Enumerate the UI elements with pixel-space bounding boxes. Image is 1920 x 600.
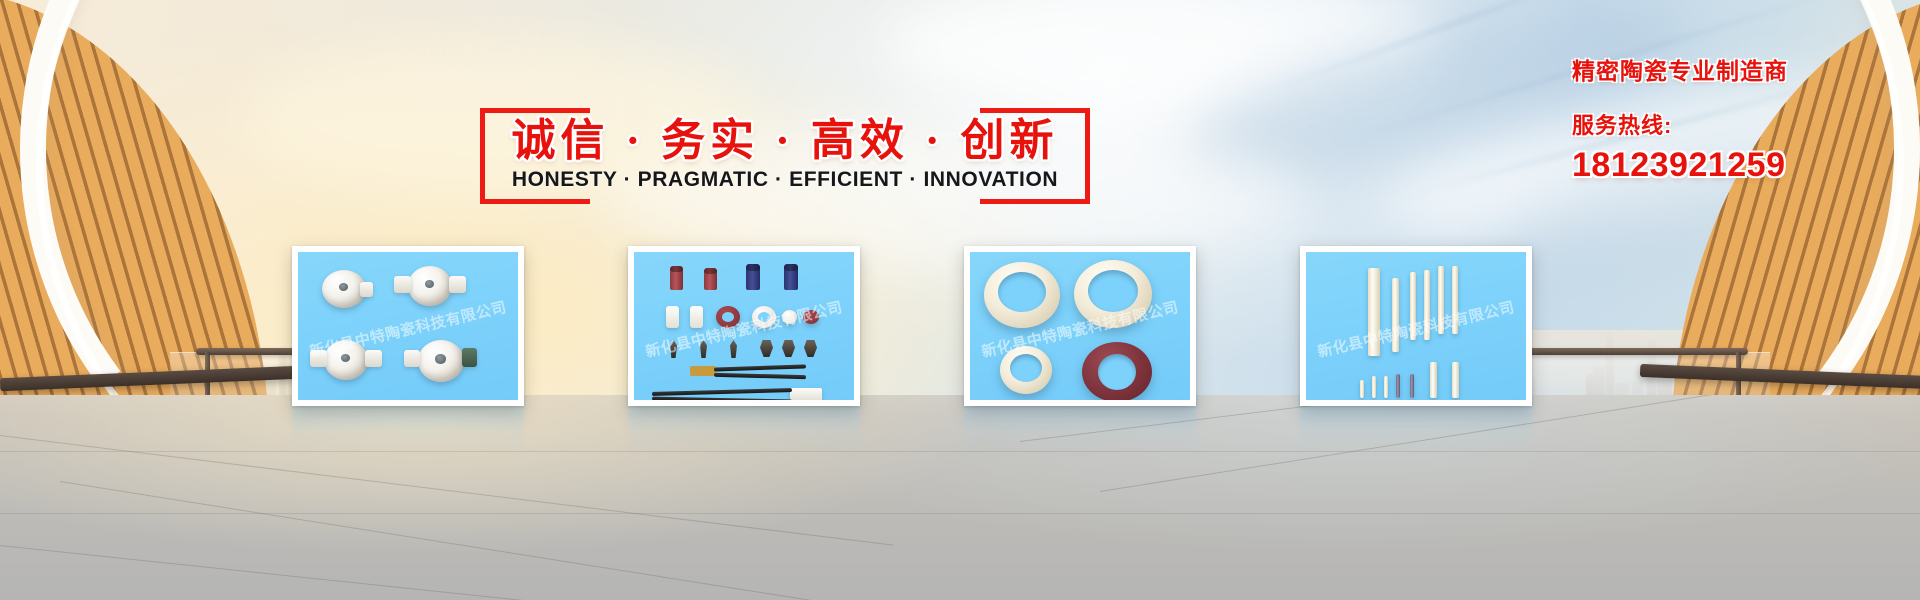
holder-tab: [365, 350, 382, 367]
ceramic-rod: [1410, 272, 1416, 340]
hotline-number[interactable]: 18123921259: [1572, 146, 1902, 185]
ceramic-rod: [1392, 278, 1399, 352]
wire-lead: [714, 364, 806, 371]
ceramic-rod: [1452, 266, 1458, 334]
contact-block: 精密陶瓷专业制造商 服务热线: 18123921259: [1572, 52, 1902, 185]
ceramic-plate: [690, 306, 703, 328]
company-tagline: 精密陶瓷专业制造商: [1572, 52, 1902, 86]
terrace-floor: [0, 395, 1920, 600]
ceramic-cap-red: [803, 310, 819, 324]
ceramic-tube: [1430, 362, 1437, 398]
slogan-english: HONESTY · PRAGMATIC · EFFICIENT · INNOVA…: [446, 168, 1124, 192]
ceramic-rod: [1424, 270, 1430, 340]
metal-clip: [730, 340, 737, 358]
product-panel-ceramic-rods[interactable]: 新化县中特陶瓷科技有限公司: [1300, 246, 1532, 406]
wire-lead: [652, 397, 792, 400]
ceramic-rod: [1438, 266, 1444, 334]
ceramic-sleeve-red: [670, 266, 683, 290]
metal-terminal: [782, 340, 795, 357]
ceramic-lamp-holder: [418, 340, 464, 382]
hotline-label: 服务热线:: [1572, 108, 1902, 140]
slogan-block: 诚信 · 务实 · 高效 · 创新 HONESTY · PRAGMATIC · …: [480, 108, 1090, 204]
hero-banner: 诚信 · 务实 · 高效 · 创新 HONESTY · PRAGMATIC · …: [0, 0, 1920, 600]
product-panel-ceramic-rings[interactable]: 新化县中特陶瓷科技有限公司: [964, 246, 1196, 406]
ceramic-rod-small: [1384, 376, 1388, 398]
wire-lead: [714, 373, 806, 379]
ring-bore: [1010, 354, 1042, 382]
ring-bore: [1098, 354, 1136, 390]
product-panel-insulator-components[interactable]: 新化县中特陶瓷科技有限公司: [628, 246, 860, 406]
holder-tab: [360, 282, 373, 297]
holder-tab: [404, 350, 420, 367]
holder-tab: [449, 276, 466, 293]
ceramic-cap-white: [782, 310, 797, 324]
ceramic-rod-violet: [1410, 374, 1414, 398]
metal-terminal: [804, 340, 817, 357]
metal-clip: [670, 340, 677, 358]
product-panel-lamp-holders[interactable]: 新化县中特陶瓷科技有限公司: [292, 246, 524, 406]
metal-terminal: [760, 340, 773, 357]
slogan-chinese: 诚信 · 务实 · 高效 · 创新: [480, 104, 1090, 168]
ring-bore: [1088, 270, 1138, 312]
panel-watermark: 新化县中特陶瓷科技有限公司: [1315, 296, 1516, 362]
metal-clip: [700, 340, 707, 358]
white-connector: [790, 388, 822, 400]
ceramic-sleeve-blue: [784, 264, 798, 290]
ring-bore: [998, 272, 1046, 312]
ceramic-sleeve-red: [704, 268, 717, 290]
ceramic-rod-violet: [1396, 374, 1400, 398]
ceramic-lamp-holder: [408, 266, 452, 306]
ceramic-plate: [666, 306, 679, 328]
wire-lead: [652, 388, 792, 396]
brass-connector: [690, 366, 716, 376]
product-gallery: 新化县中特陶瓷科技有限公司: [292, 246, 1532, 406]
ceramic-rod-small: [1360, 380, 1364, 398]
ring-hole: [722, 312, 734, 322]
holder-tab: [394, 276, 411, 293]
ceramic-sleeve-blue: [746, 264, 760, 290]
ring-hole: [758, 312, 770, 322]
holder-tab: [310, 350, 327, 367]
holder-terminal: [462, 348, 477, 367]
ceramic-tube: [1452, 362, 1459, 398]
ceramic-rod: [1368, 268, 1380, 356]
ceramic-rod-small: [1372, 376, 1376, 398]
ceramic-lamp-holder: [324, 340, 368, 380]
